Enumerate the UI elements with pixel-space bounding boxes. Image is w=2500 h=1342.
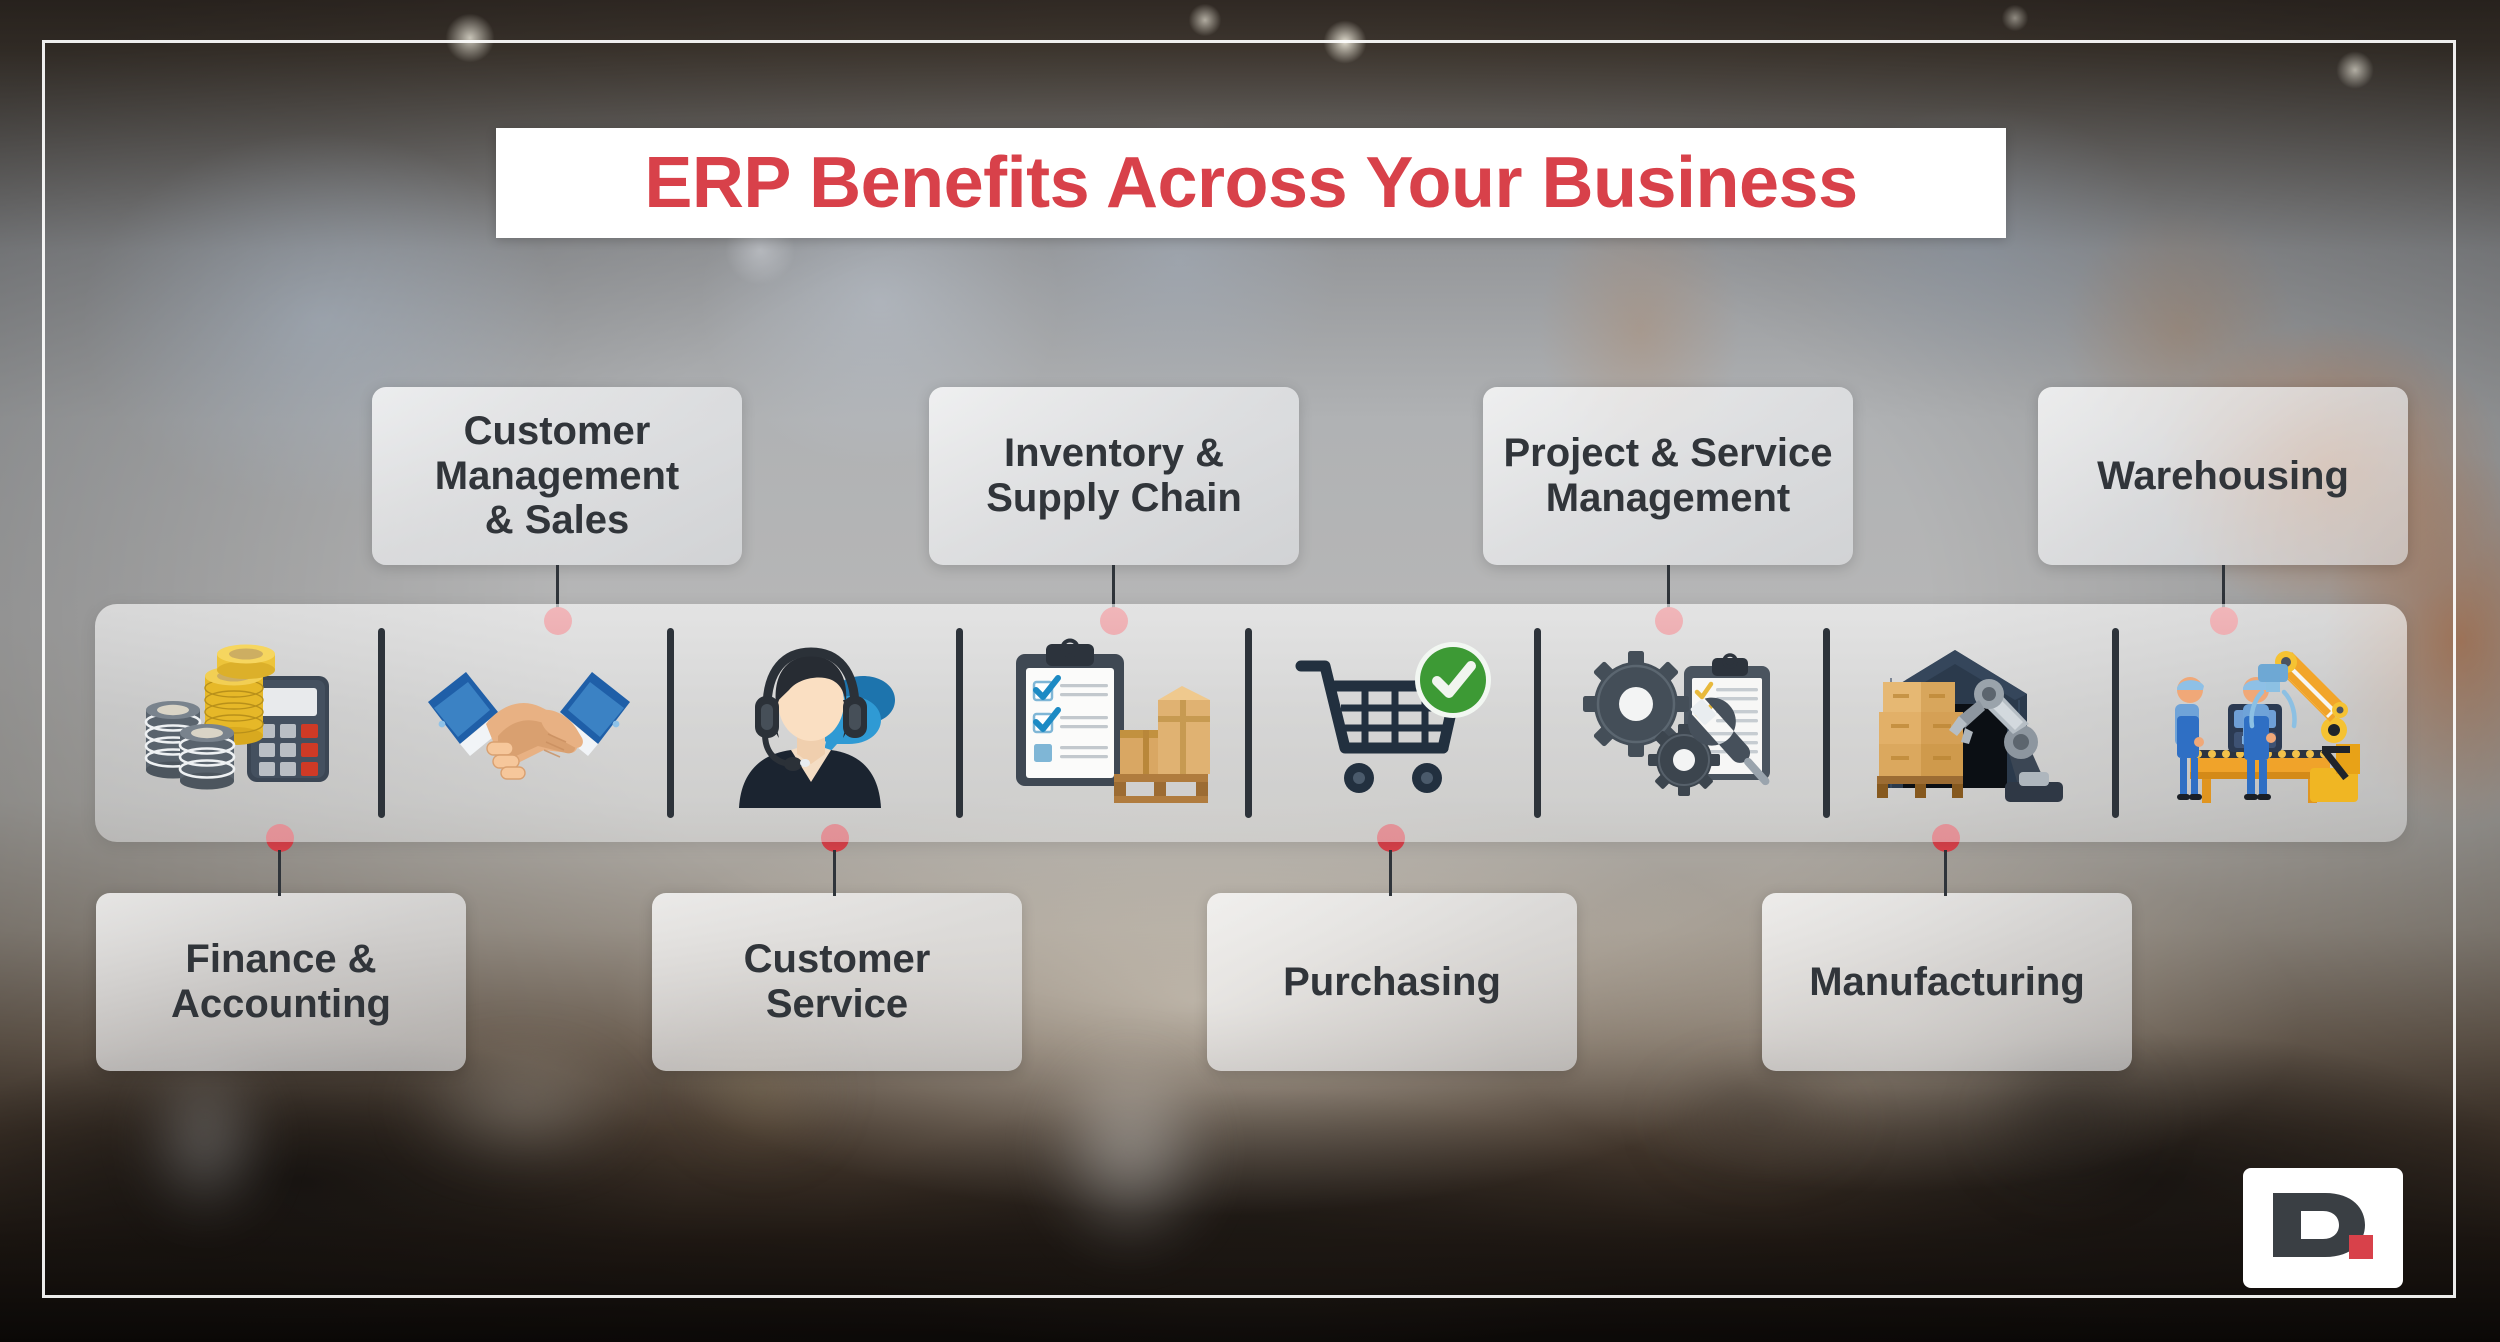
label-card-manufacturing[interactable]: Manufacturing <box>1762 893 2132 1071</box>
icon-separator <box>1534 628 1541 818</box>
icon-cell-finance-accounting[interactable] <box>95 604 384 842</box>
label-card-text: Customer Management & Sales <box>435 409 680 543</box>
warehouse-robot-icon <box>1869 638 2079 808</box>
handshake-icon <box>424 638 634 808</box>
shopping-cart-check-icon <box>1291 638 1501 808</box>
connector-line-finance-accounting <box>278 850 281 896</box>
icon-cell-purchasing[interactable] <box>1251 604 1540 842</box>
label-card-finance-accounting[interactable]: Finance & Accounting <box>96 893 466 1071</box>
icon-cell-manufacturing[interactable] <box>1829 604 2118 842</box>
icon-separator <box>1823 628 1830 818</box>
headset-agent-icon <box>713 638 923 808</box>
label-card-text: Warehousing <box>2097 454 2349 499</box>
logo-d-icon <box>2267 1187 2379 1269</box>
connector-line-purchasing <box>1389 850 1392 896</box>
icon-cell-inventory-supply-chain[interactable] <box>962 604 1251 842</box>
icon-separator <box>1245 628 1252 818</box>
infographic-canvas: ERP Benefits Across Your Business Custom… <box>0 0 2500 1342</box>
label-card-text: Project & Service Management <box>1503 431 1832 521</box>
page-title: ERP Benefits Across Your Business <box>644 142 1857 224</box>
label-card-text: Customer Service <box>744 937 931 1027</box>
clipboard-pallet-icon <box>1002 638 1212 808</box>
label-card-purchasing[interactable]: Purchasing <box>1207 893 1577 1071</box>
icon-separator <box>667 628 674 818</box>
icon-separator <box>378 628 385 818</box>
icon-separator <box>2112 628 2119 818</box>
label-card-project-service-management[interactable]: Project & Service Management <box>1483 387 1853 565</box>
label-card-text: Finance & Accounting <box>171 937 391 1027</box>
title-banner: ERP Benefits Across Your Business <box>496 128 2006 238</box>
label-card-customer-service[interactable]: Customer Service <box>652 893 1022 1071</box>
label-card-text: Manufacturing <box>1809 960 2085 1005</box>
logo-red-dot <box>2349 1235 2373 1259</box>
label-card-text: Inventory & Supply Chain <box>986 431 1242 521</box>
brand-logo[interactable] <box>2243 1168 2403 1288</box>
assembly-line-icon <box>2158 638 2368 808</box>
icon-cell-customer-management-sales[interactable] <box>384 604 673 842</box>
icon-cell-project-service-management[interactable] <box>1540 604 1829 842</box>
icon-separator <box>956 628 963 818</box>
label-card-inventory-supply-chain[interactable]: Inventory & Supply Chain <box>929 387 1299 565</box>
label-card-warehousing[interactable]: Warehousing <box>2038 387 2408 565</box>
coins-calculator-icon <box>135 638 345 808</box>
icon-cell-customer-service[interactable] <box>673 604 962 842</box>
gears-clipboard-wrench-icon <box>1580 638 1790 808</box>
connector-line-manufacturing <box>1944 850 1947 896</box>
label-card-text: Purchasing <box>1283 960 1501 1005</box>
module-icon-strip <box>95 604 2407 842</box>
icon-cell-warehousing[interactable] <box>2118 604 2407 842</box>
label-card-customer-management-sales[interactable]: Customer Management & Sales <box>372 387 742 565</box>
connector-line-customer-service <box>833 850 836 896</box>
